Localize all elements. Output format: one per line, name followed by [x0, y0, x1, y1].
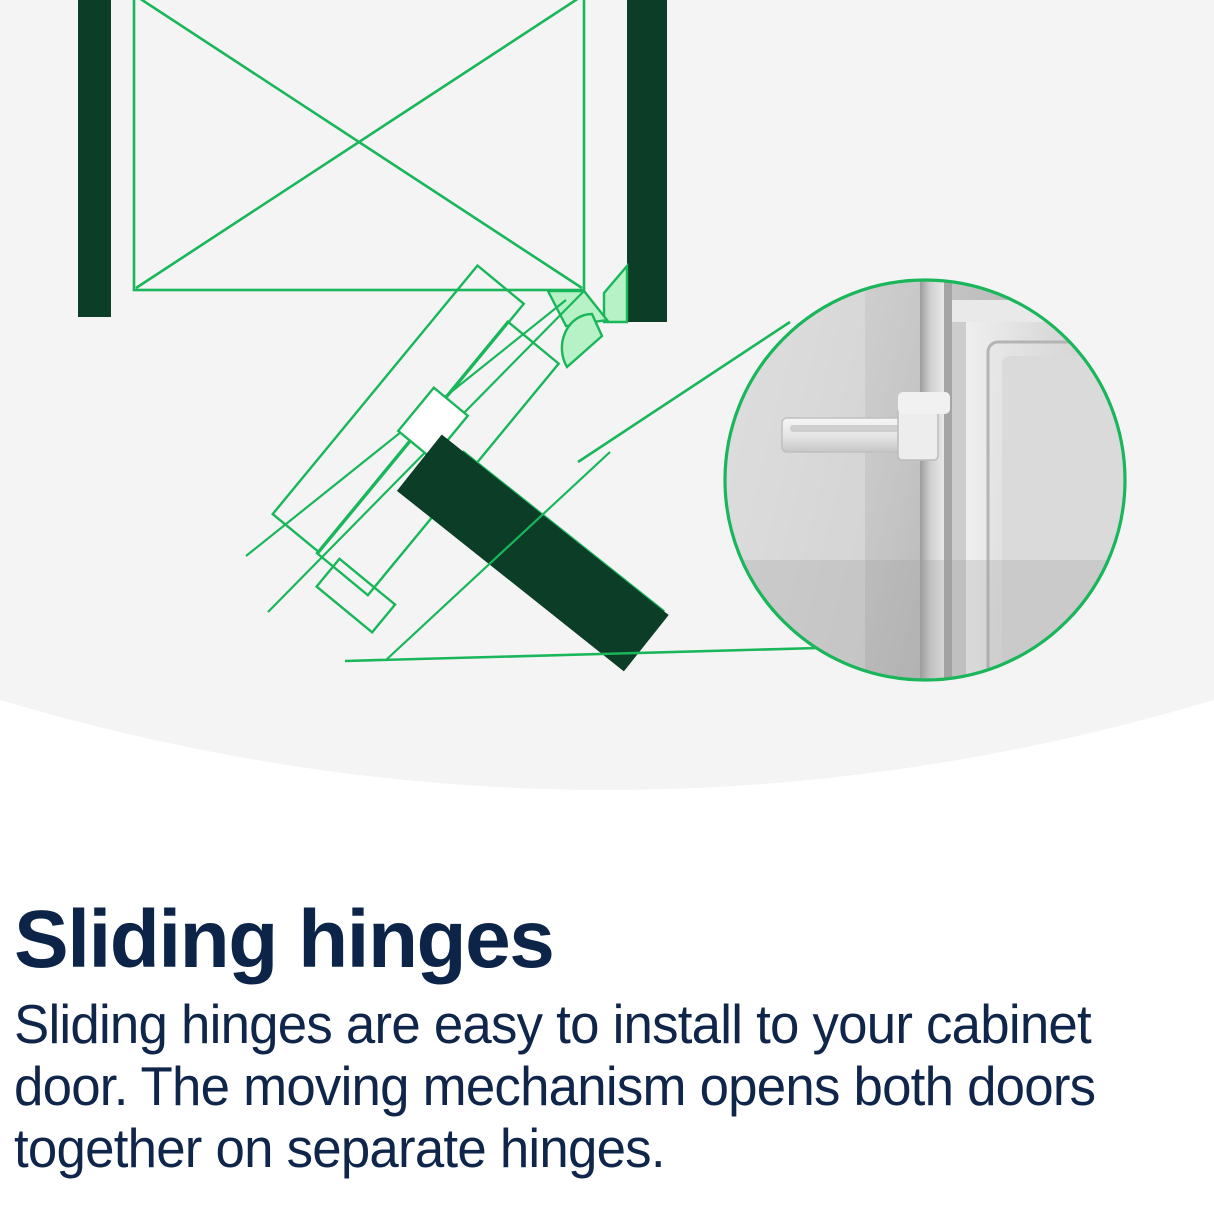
photo-hinge-knuckle — [898, 408, 938, 460]
left-cabinet-side-panel — [78, 0, 111, 317]
caption-block: Sliding hinges Sliding hinges are easy t… — [0, 900, 1214, 1179]
description-text: Sliding hinges are easy to install to yo… — [14, 994, 1153, 1179]
right-cabinet-side-panel — [627, 0, 667, 322]
page-root: Sliding hinges Sliding hinges are easy t… — [0, 0, 1214, 1214]
photo-stile-top-cap — [898, 392, 950, 414]
illustration-panel — [0, 0, 1214, 880]
photo-hinge-arm-groove — [790, 425, 910, 432]
page-title: Sliding hinges — [14, 900, 1200, 980]
sliding-hinge-diagram — [0, 0, 1214, 880]
